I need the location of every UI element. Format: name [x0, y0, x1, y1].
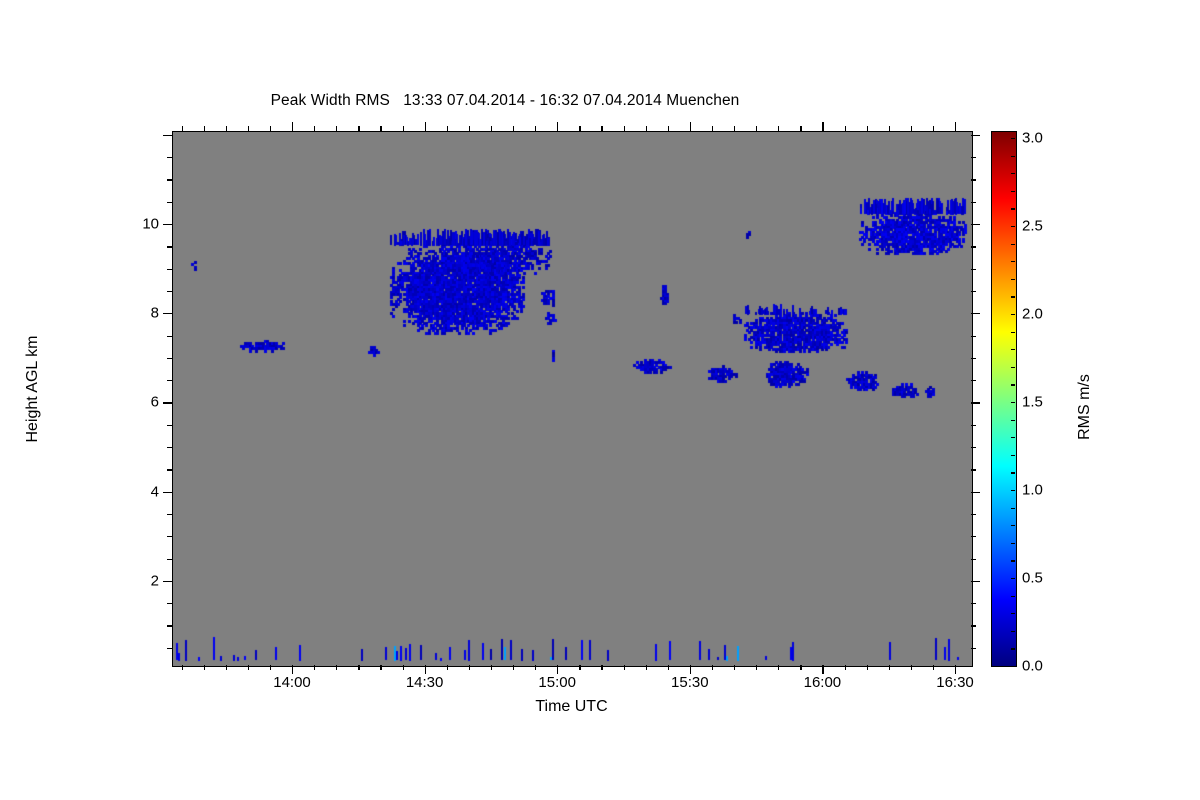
plot-axes-area — [172, 131, 973, 667]
x-tick-minor-top — [668, 126, 669, 131]
x-tick-minor-top — [579, 126, 580, 131]
y-tick-minor-right — [971, 380, 976, 381]
x-tick-label: 15:00 — [538, 674, 576, 691]
colorbar-minor-tick — [1011, 420, 1015, 421]
y-tick-minor — [167, 603, 172, 604]
colorbar-minor-tick — [1011, 208, 1015, 209]
y-tick-minor-right — [971, 269, 976, 270]
x-tick-minor — [204, 665, 205, 670]
colorbar-minor-tick — [1011, 631, 1015, 632]
x-tick-major — [292, 665, 293, 674]
x-tick-major — [425, 665, 426, 674]
colorbar-minor-tick — [1011, 279, 1015, 280]
y-tick-minor — [167, 269, 172, 270]
x-tick-minor-top — [535, 126, 536, 131]
x-tick-minor-top — [911, 126, 912, 131]
x-tick-minor-top — [314, 126, 315, 131]
colorbar-minor-tick — [1011, 437, 1015, 438]
y-tick-minor-right — [971, 469, 976, 470]
y-tick-minor — [167, 179, 172, 180]
x-tick-minor-top — [867, 126, 868, 131]
colorbar-minor-tick — [1011, 191, 1015, 192]
x-tick-minor — [756, 665, 757, 670]
x-tick-minor-top — [756, 126, 757, 131]
x-tick-minor — [933, 665, 934, 670]
y-tick-major — [163, 581, 172, 582]
page-title: Peak Width RMS 13:33 07.04.2014 - 16:32 … — [0, 92, 1010, 110]
colorbar-minor-tick — [1011, 138, 1015, 139]
y-tick-minor-right — [971, 179, 976, 180]
colorbar — [991, 131, 1017, 667]
y-tick-minor-right — [971, 625, 976, 626]
x-tick-minor — [800, 665, 801, 670]
y-tick-label: 10 — [119, 216, 159, 233]
x-tick-minor-top — [800, 126, 801, 131]
x-tick-minor-top — [204, 126, 205, 131]
x-tick-minor-top — [845, 126, 846, 131]
y-tick-minor — [167, 380, 172, 381]
x-tick-minor-top — [734, 126, 735, 131]
colorbar-minor-tick — [1011, 525, 1015, 526]
x-tick-minor-top — [403, 126, 404, 131]
colorbar-minor-tick — [1011, 578, 1015, 579]
colorbar-minor-tick — [1011, 261, 1015, 262]
y-tick-label: 2 — [119, 572, 159, 589]
y-tick-minor-right — [971, 336, 976, 337]
x-tick-major-top — [822, 122, 823, 131]
y-tick-major — [163, 313, 172, 314]
y-tick-minor-right — [971, 425, 976, 426]
x-tick-minor — [491, 665, 492, 670]
colorbar-label: RMS m/s — [1076, 307, 1094, 507]
y-tick-minor-right — [971, 447, 976, 448]
colorbar-minor-tick — [1011, 244, 1015, 245]
x-tick-minor-top — [933, 126, 934, 131]
colorbar-tick-label: 2.5 — [1022, 218, 1043, 235]
x-tick-minor — [579, 665, 580, 670]
x-tick-minor — [712, 665, 713, 670]
y-tick-major-right — [971, 581, 980, 582]
x-tick-minor — [513, 665, 514, 670]
x-tick-minor-top — [469, 126, 470, 131]
colorbar-minor-tick — [1011, 384, 1015, 385]
y-tick-minor — [167, 648, 172, 649]
y-tick-minor — [167, 514, 172, 515]
x-tick-minor — [403, 665, 404, 670]
y-tick-minor — [167, 358, 172, 359]
y-tick-major — [163, 224, 172, 225]
x-tick-minor-top — [712, 126, 713, 131]
y-tick-minor-right — [971, 358, 976, 359]
colorbar-minor-tick — [1011, 349, 1015, 350]
y-tick-major-right — [971, 135, 980, 136]
y-tick-minor — [167, 202, 172, 203]
heatmap-data-layer — [173, 132, 972, 666]
y-tick-minor — [167, 157, 172, 158]
x-tick-minor-top — [270, 126, 271, 131]
y-tick-minor-right — [971, 559, 976, 560]
x-tick-minor — [380, 665, 381, 670]
x-tick-label: 16:30 — [936, 674, 974, 691]
x-tick-minor-top — [491, 126, 492, 131]
y-tick-label: 4 — [119, 483, 159, 500]
y-tick-minor — [167, 469, 172, 470]
x-tick-minor-top — [624, 126, 625, 131]
y-axis-label: Height AGL km — [24, 219, 42, 559]
x-tick-minor-top — [513, 126, 514, 131]
x-tick-minor — [358, 665, 359, 670]
y-tick-major-right — [971, 313, 980, 314]
y-tick-minor — [167, 536, 172, 537]
x-tick-minor — [535, 665, 536, 670]
colorbar-tick-label: 0.5 — [1022, 570, 1043, 587]
y-tick-minor-right — [971, 202, 976, 203]
x-tick-major-top — [690, 122, 691, 131]
y-tick-minor — [167, 625, 172, 626]
y-tick-minor-right — [971, 648, 976, 649]
x-tick-minor-top — [248, 126, 249, 131]
x-tick-minor — [778, 665, 779, 670]
y-tick-minor — [167, 447, 172, 448]
colorbar-minor-tick — [1011, 508, 1015, 509]
x-tick-minor — [314, 665, 315, 670]
x-tick-major — [955, 665, 956, 674]
colorbar-minor-tick — [1011, 490, 1015, 491]
x-tick-minor-top — [336, 126, 337, 131]
y-tick-minor — [167, 246, 172, 247]
y-tick-major-right — [971, 492, 980, 493]
x-tick-minor-top — [182, 126, 183, 131]
x-tick-major — [557, 665, 558, 674]
colorbar-minor-tick — [1011, 314, 1015, 315]
colorbar-minor-tick — [1011, 332, 1015, 333]
x-tick-major-top — [955, 122, 956, 131]
x-tick-minor — [624, 665, 625, 670]
x-tick-minor — [845, 665, 846, 670]
figure-canvas: Peak Width RMS 13:33 07.04.2014 - 16:32 … — [0, 0, 1200, 800]
x-tick-major-top — [557, 122, 558, 131]
y-tick-minor-right — [971, 157, 976, 158]
x-axis-label: Time UTC — [172, 698, 971, 716]
x-tick-minor — [469, 665, 470, 670]
x-tick-minor — [270, 665, 271, 670]
y-tick-minor — [167, 425, 172, 426]
y-tick-major — [163, 135, 172, 136]
x-tick-minor-top — [447, 126, 448, 131]
x-tick-minor-top — [358, 126, 359, 131]
y-tick-minor-right — [971, 603, 976, 604]
y-tick-minor — [167, 336, 172, 337]
y-tick-minor-right — [971, 291, 976, 292]
x-tick-minor — [226, 665, 227, 670]
colorbar-minor-tick — [1011, 472, 1015, 473]
colorbar-minor-tick — [1011, 560, 1015, 561]
x-tick-minor-top — [226, 126, 227, 131]
y-tick-minor — [167, 559, 172, 560]
x-tick-minor — [182, 665, 183, 670]
colorbar-gradient — [992, 132, 1016, 666]
colorbar-minor-tick — [1011, 173, 1015, 174]
x-tick-minor-top — [646, 126, 647, 131]
colorbar-minor-tick — [1011, 596, 1015, 597]
y-tick-major — [163, 492, 172, 493]
x-tick-minor — [601, 665, 602, 670]
x-tick-minor-top — [380, 126, 381, 131]
x-tick-label: 15:30 — [671, 674, 709, 691]
x-tick-major — [690, 665, 691, 674]
y-tick-major-right — [971, 402, 980, 403]
colorbar-minor-tick — [1011, 296, 1015, 297]
x-tick-minor — [336, 665, 337, 670]
x-tick-major-top — [292, 122, 293, 131]
y-tick-major-right — [971, 224, 980, 225]
y-tick-minor-right — [971, 514, 976, 515]
colorbar-minor-tick — [1011, 455, 1015, 456]
x-tick-major-top — [425, 122, 426, 131]
y-tick-minor-right — [971, 536, 976, 537]
x-tick-major — [822, 665, 823, 674]
x-tick-minor-top — [889, 126, 890, 131]
colorbar-tick-label: 2.0 — [1022, 306, 1043, 323]
x-tick-minor — [889, 665, 890, 670]
colorbar-minor-tick — [1011, 367, 1015, 368]
colorbar-tick-label: 1.5 — [1022, 394, 1043, 411]
colorbar-minor-tick — [1011, 543, 1015, 544]
colorbar-minor-tick — [1011, 402, 1015, 403]
x-tick-minor — [734, 665, 735, 670]
colorbar-tick-label: 1.0 — [1022, 482, 1043, 499]
y-tick-minor-right — [971, 246, 976, 247]
x-tick-minor — [248, 665, 249, 670]
y-tick-label: 8 — [119, 305, 159, 322]
colorbar-tick-label: 3.0 — [1022, 130, 1043, 147]
x-tick-minor — [867, 665, 868, 670]
x-tick-minor-top — [778, 126, 779, 131]
colorbar-minor-tick — [1011, 648, 1015, 649]
colorbar-minor-tick — [1011, 226, 1015, 227]
x-tick-label: 14:00 — [273, 674, 311, 691]
colorbar-minor-tick — [1011, 613, 1015, 614]
colorbar-tick-label: 0.0 — [1022, 658, 1043, 675]
x-tick-label: 16:00 — [804, 674, 842, 691]
x-tick-minor — [911, 665, 912, 670]
x-tick-minor — [668, 665, 669, 670]
colorbar-minor-tick — [1011, 156, 1015, 157]
y-tick-minor — [167, 291, 172, 292]
x-tick-minor — [447, 665, 448, 670]
y-tick-major — [163, 402, 172, 403]
x-tick-minor-top — [601, 126, 602, 131]
x-tick-label: 14:30 — [406, 674, 444, 691]
y-tick-label: 6 — [119, 394, 159, 411]
x-tick-minor — [646, 665, 647, 670]
